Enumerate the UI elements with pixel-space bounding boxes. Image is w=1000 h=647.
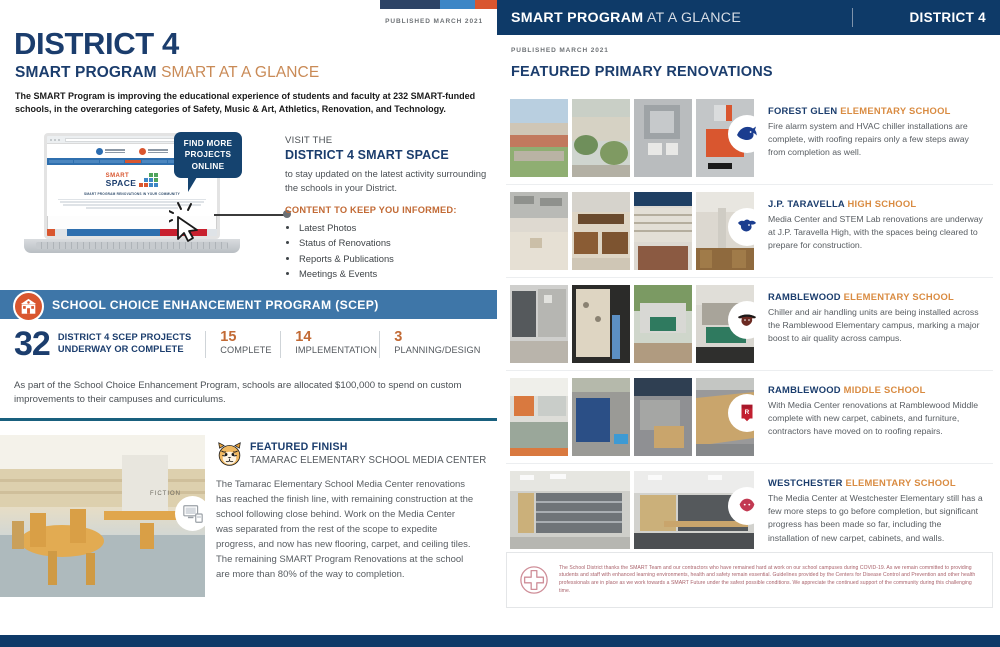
section-divider-rule [0,418,497,421]
bottom-color-bar [0,635,1000,647]
school-type: HIGH SCHOOL [847,198,916,209]
thumbnail-strip [506,99,754,177]
school-building-icon [13,291,44,322]
scep-stat-implementation: 14 IMPLEMENTATION [281,329,379,355]
school-title: WESTCHESTER ELEMENTARY SCHOOL [768,477,983,488]
thumbnail-strip [506,285,754,363]
browser-dot-icon [50,139,52,141]
school-title: J.P. TARAVELLA HIGH SCHOOL [768,198,983,209]
stat-label: IMPLEMENTATION [295,345,379,355]
right-header-district: DISTRICT 4 [909,10,986,25]
scep-banner-title: SCHOOL CHOICE ENHANCEMENT PROGRAM (SCEP) [52,298,379,312]
page-subtitle: SMART PROGRAM SMART AT A GLANCE [15,64,319,82]
school-name: WESTCHESTER [768,477,843,488]
renovation-row: FOREST GLEN ELEMENTARY SCHOOL Fire alarm… [506,92,993,185]
published-date-right: PUBLISHED MARCH 2021 [511,47,609,54]
topbar-orange-segment [475,0,497,9]
photo-thumbnail[interactable] [510,192,568,270]
browser-dot-icon [54,139,56,141]
content-bullet-list: Latest Photos Status of Renovations Repo… [299,220,490,281]
school-title: RAMBLEWOOD ELEMENTARY SCHOOL [768,291,983,302]
school-type: ELEMENTARY SCHOOL [844,291,954,302]
scep-big-label-line2: UNDERWAY OR COMPLETE [58,344,184,354]
stat-label: COMPLETE [220,345,280,355]
disclaimer-box: The School District thanks the SMART Tea… [506,552,993,608]
renovation-description: Chiller and air handling units are being… [768,306,983,346]
stat-number: 14 [295,330,379,345]
featured-finish-text: FEATURED FINISH TAMARAC ELEMENTARY SCHOO… [216,441,491,582]
computer-icon [182,503,204,525]
space-word: SPACE [106,179,137,188]
renovation-text: RAMBLEWOOD MIDDLE SCHOOL With Media Cent… [754,378,993,439]
school-mascot-badge [730,117,764,151]
school-name: FOREST GLEN [768,105,837,116]
list-item: Meetings & Events [299,266,490,281]
renovation-row: RAMBLEWOOD ELEMENTARY SCHOOL Chiller and… [506,278,993,371]
site-caption: SMART PROGRAM RENOVATIONS IN YOUR COMMUN… [55,192,209,196]
school-type: ELEMENTARY SCHOOL [846,477,956,488]
intro-paragraph: The SMART Program is improving the educa… [15,90,481,116]
photo-thumbnail[interactable] [634,378,692,456]
right-header-bar: SMART PROGRAM AT A GLANCE DISTRICT 4 [497,0,1000,35]
renovation-row: R RAMBLEWOOD MIDDLE SCHOOL With Media Ce… [506,371,993,464]
district-logo-icon [96,148,125,155]
visit-label: VISIT THE [285,135,490,146]
smart-space-callout: VISIT THE DISTRICT 4 SMART SPACE to stay… [285,135,490,281]
content-heading: CONTENT TO KEEP YOU INFORMED: [285,205,490,215]
leader-line [214,214,286,216]
right-column: SMART PROGRAM AT A GLANCE DISTRICT 4 PUB… [497,0,1000,635]
photo-thumbnail[interactable] [572,285,630,363]
photo-thumbnail[interactable] [572,99,630,177]
wildcat-logo-icon [736,495,758,517]
ram-logo-icon: R [736,402,758,424]
featured-finish-body: The Tamarac Elementary School Media Cent… [216,477,474,582]
medical-cross-icon [519,565,549,595]
browser-dot-icon [58,139,60,141]
renovation-text: J.P. TARAVELLA HIGH SCHOOL Media Center … [754,192,993,253]
school-name: RAMBLEWOOD [768,384,841,395]
school-name: RAMBLEWOOD [768,291,841,302]
renovation-description: Fire alarm system and HVAC chiller insta… [768,120,983,160]
school-name: J.P. TARAVELLA [768,198,845,209]
thumbnail-strip: R [506,378,754,456]
renovation-description: The Media Center at Westchester Elementa… [768,492,983,545]
photo-thumbnail[interactable] [634,99,692,177]
photo-thumbnail[interactable] [572,378,630,456]
renovation-row: J.P. TARAVELLA HIGH SCHOOL Media Center … [506,185,993,278]
topbar-blue-segment [440,0,475,9]
school-mascot-badge [730,210,764,244]
school-mascot-badge [730,489,764,523]
featured-finish-icon-badge [175,496,210,531]
school-title: FOREST GLEN ELEMENTARY SCHOOL [768,105,983,116]
photo-thumbnail[interactable] [510,99,568,177]
photo-thumbnail[interactable] [572,192,630,270]
featured-renovations-title: FEATURED PRIMARY RENOVATIONS [511,64,773,80]
renovation-row: WESTCHESTER ELEMENTARY SCHOOL The Media … [506,464,993,556]
scep-big-number: 32 [14,329,50,360]
infographic-page: PUBLISHED MARCH 2021 DISTRICT 4 SMART PR… [0,0,1000,647]
photo-thumbnail[interactable] [510,378,568,456]
stat-number: 15 [220,330,280,345]
tiger-mascot-icon [216,441,243,468]
published-date-left: PUBLISHED MARCH 2021 [385,18,483,25]
smart-space-description: to stay updated on the latest activity s… [285,167,490,194]
svg-text:FICTION: FICTION [150,491,181,497]
smart-logo-icon [139,148,168,155]
photo-thumbnail[interactable] [634,192,692,270]
right-header-light: AT A GLANCE [647,10,741,26]
scep-stat-complete: 15 COMPLETE [206,329,280,355]
header-separator [852,8,853,27]
subtitle-light: SMART AT A GLANCE [161,64,319,81]
school-type: ELEMENTARY SCHOOL [840,105,950,116]
featured-finish-heading: FEATURED FINISH TAMARAC ELEMENTARY SCHOO… [216,441,491,468]
topbar-navy-segment [380,0,440,9]
bull-logo-icon [735,215,759,239]
stat-label: PLANNING/DESIGN [394,345,480,355]
list-item: Latest Photos [299,220,490,235]
photo-thumbnail[interactable] [634,285,692,363]
renovation-description: Media Center and STEM Lab renovations ar… [768,213,983,253]
left-column: PUBLISHED MARCH 2021 DISTRICT 4 SMART PR… [0,9,497,635]
raider-logo-icon [735,308,759,332]
disclaimer-text: The School District thanks the SMART Tea… [559,565,980,596]
smart-grid-icon [139,173,158,187]
renovation-text: RAMBLEWOOD ELEMENTARY SCHOOL Chiller and… [754,285,993,346]
thumbnail-strip [506,471,754,549]
scep-stats-row: 32 DISTRICT 4 SCEP PROJECTS UNDERWAY OR … [14,329,484,360]
right-header-bold: SMART PROGRAM [511,10,643,26]
right-header-title: SMART PROGRAM AT A GLANCE [511,10,741,26]
photo-thumbnail[interactable] [510,471,630,549]
scep-big-label: DISTRICT 4 SCEP PROJECTS UNDERWAY OR COM… [58,332,191,356]
scep-note: As part of the School Choice Enhancement… [14,379,488,408]
scep-big-label-line1: DISTRICT 4 SCEP PROJECTS [58,332,191,342]
panther-logo-icon [735,122,759,146]
svg-text:R: R [745,409,750,416]
laptop-keyboard [36,242,228,249]
renovation-text: WESTCHESTER ELEMENTARY SCHOOL The Media … [754,471,993,545]
list-item: Status of Renovations [299,235,490,250]
scep-banner: SCHOOL CHOICE ENHANCEMENT PROGRAM (SCEP) [0,290,497,319]
thumbnail-strip [506,192,754,270]
school-mascot-badge: R [730,396,764,430]
stat-number: 3 [394,330,480,345]
renovation-text: FOREST GLEN ELEMENTARY SCHOOL Fire alarm… [754,99,993,160]
list-item: Reports & Publications [299,251,490,266]
subtitle-bold: SMART PROGRAM [15,64,157,81]
photo-thumbnail[interactable] [510,285,568,363]
featured-finish-subtitle: TAMARAC ELEMENTARY SCHOOL MEDIA CENTER [250,455,486,466]
scep-primary-stat: 32 DISTRICT 4 SCEP PROJECTS UNDERWAY OR … [14,329,205,360]
topbar-blank-segment [0,0,380,9]
smart-space-name: DISTRICT 4 SMART SPACE [285,148,490,162]
school-mascot-badge [730,303,764,337]
school-type: MIDDLE SCHOOL [844,384,926,395]
renovation-rows: FOREST GLEN ELEMENTARY SCHOOL Fire alarm… [506,92,993,556]
school-title: RAMBLEWOOD MIDDLE SCHOOL [768,384,983,395]
find-more-projects-bubble[interactable]: FIND MORE PROJECTS ONLINE [174,132,242,178]
scep-stat-planning: 3 PLANNING/DESIGN [380,329,480,355]
renovation-description: With Media Center renovations at Ramblew… [768,399,983,439]
mouse-cursor-icon [169,201,211,243]
featured-finish-title: FEATURED FINISH [250,441,486,453]
page-title: DISTRICT 4 [14,26,179,62]
